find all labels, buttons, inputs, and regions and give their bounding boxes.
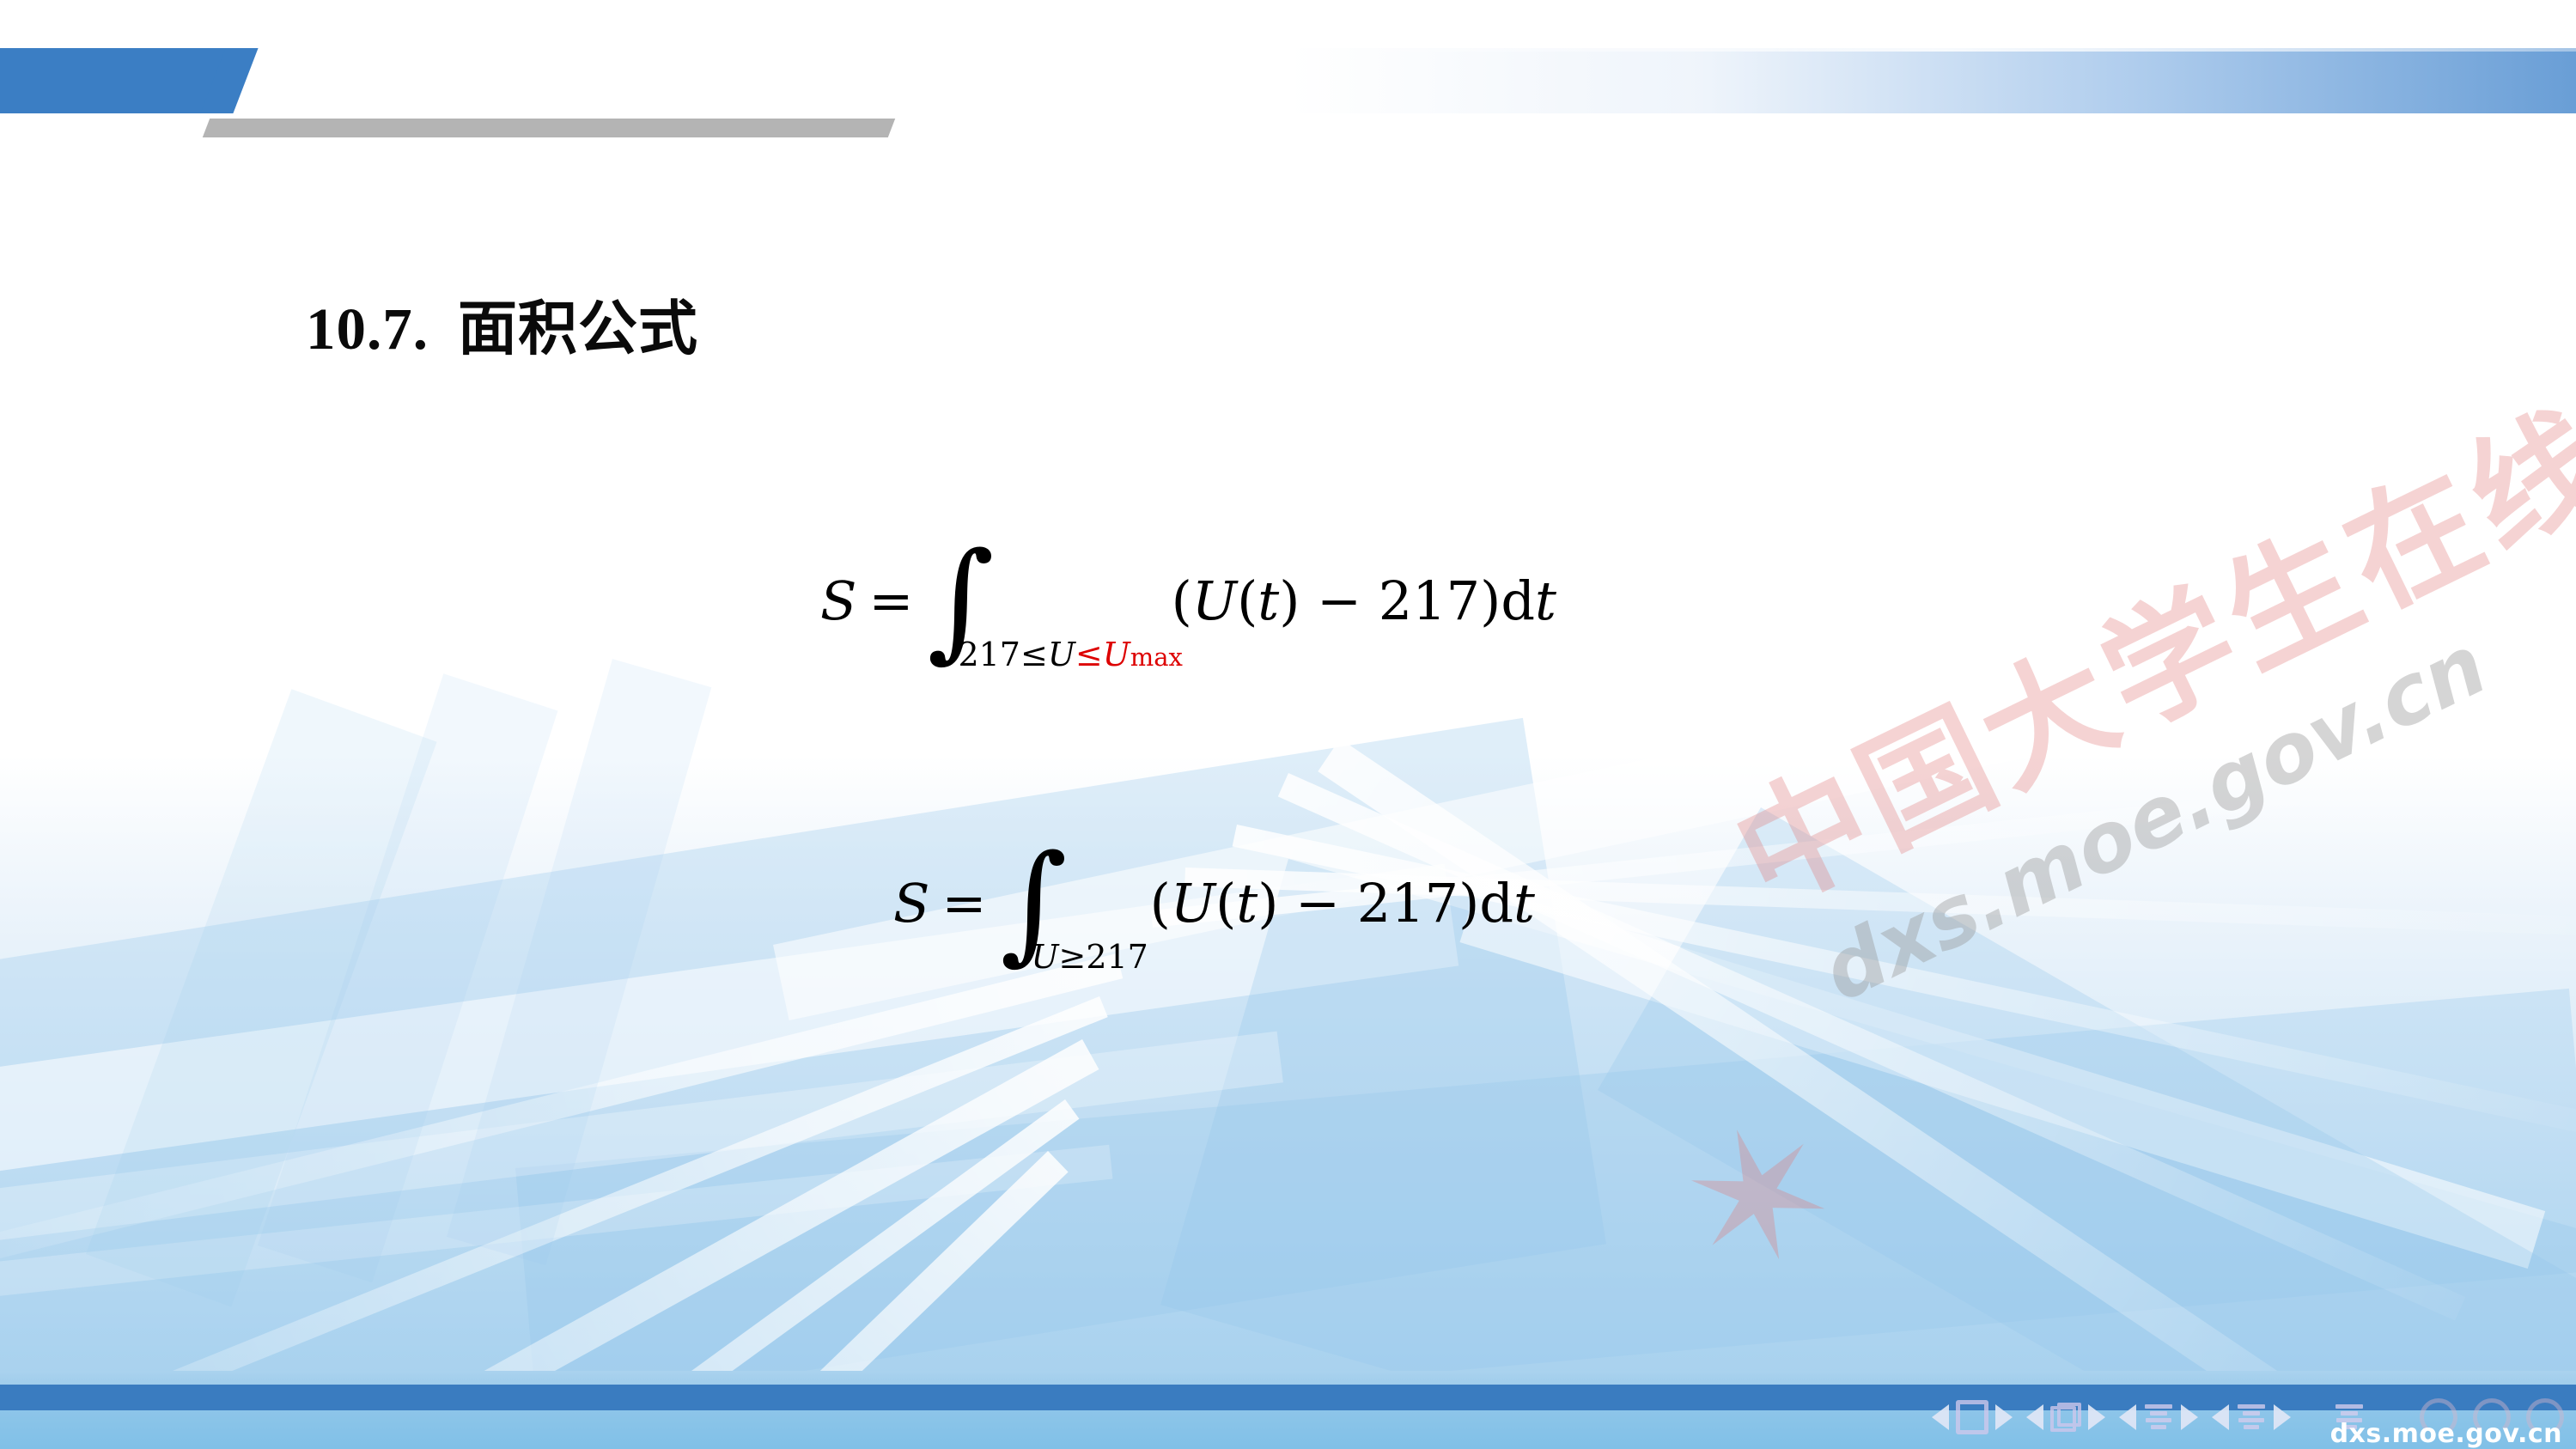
header-gradient-band [1288, 48, 2576, 113]
limit-le-operator: ≤ [1020, 636, 1048, 673]
formula-area-bounded: S = ∫ 217≤U≤Umax (U(t) − 217)dt [820, 548, 1556, 654]
bottom-bar-url: dxs.moe.gov.cn [2330, 1419, 2562, 1449]
previous-section-icon[interactable] [2026, 1404, 2043, 1430]
paren-open: ( [1150, 872, 1171, 935]
formula1-integrand: (U(t) − 217)dt [1172, 569, 1556, 632]
previous-slide-icon[interactable] [1932, 1404, 1949, 1430]
next-section-icon[interactable] [2088, 1404, 2105, 1430]
paren-close: ) [1459, 872, 1479, 935]
page-title: 10.7.面积公式 [306, 280, 698, 366]
differential-d: d [1479, 872, 1513, 935]
integrand-function: U [1192, 569, 1237, 632]
formula2-lhs: S [893, 872, 929, 935]
paren-close-inner: ) [1258, 872, 1278, 935]
formula1-integral: ∫ 217≤U≤Umax [927, 548, 994, 654]
formula-area-simple: S = ∫ U≥217 (U(t) − 217)dt [893, 850, 1535, 956]
integrand-function: U [1171, 872, 1215, 935]
paren-close: ) [1480, 569, 1501, 632]
formula1-lhs: S [820, 569, 856, 632]
formula2-equals: = [941, 872, 986, 935]
minus-operator: − [1295, 872, 1340, 935]
nav-group-slide [1932, 1400, 2013, 1434]
integrand-constant: 217 [1357, 872, 1459, 935]
paren-open: ( [1172, 569, 1192, 632]
differential-d: d [1501, 569, 1535, 632]
slide-navigation-bar[interactable]: dxs.moe.gov.cn [0, 1385, 2576, 1449]
nav-group-section [2026, 1403, 2105, 1432]
limit-variable: U [1048, 636, 1075, 673]
title-number: 10.7. [306, 296, 429, 362]
notes-list-icon[interactable] [2236, 1403, 2267, 1432]
bottom-band-upper [0, 1371, 2576, 1385]
nav-group-subsection [2119, 1403, 2198, 1432]
nav-group-frame [2212, 1403, 2291, 1432]
paren-close-inner: ) [1279, 569, 1300, 632]
integrand-variable: t [1258, 569, 1279, 632]
differential-var: t [1535, 569, 1556, 632]
outline-list-icon[interactable] [2143, 1403, 2174, 1432]
paren-open-inner: ( [1215, 872, 1236, 935]
next-subsection-icon[interactable] [2181, 1404, 2198, 1430]
formula1-integral-limits: 217≤U≤Umax [958, 638, 1182, 671]
paren-open-inner: ( [1237, 569, 1258, 632]
next-slide-icon[interactable] [1995, 1404, 2013, 1430]
differential-var: t [1513, 872, 1535, 935]
slide-square-icon[interactable] [1956, 1400, 1988, 1434]
previous-subsection-icon[interactable] [2119, 1404, 2136, 1430]
limit-red-index: max [1130, 642, 1183, 672]
integrand-constant: 217 [1379, 569, 1480, 632]
limit-red-le-operator: ≤ [1075, 636, 1103, 673]
formula1-equals: = [868, 569, 913, 632]
title-text: 面积公式 [458, 294, 698, 363]
previous-frame-icon[interactable] [2212, 1404, 2229, 1430]
slides-stack-icon[interactable] [2050, 1403, 2081, 1432]
header-gray-bar [203, 119, 895, 137]
integrand-variable: t [1236, 872, 1258, 935]
formula2-integral: ∫ U≥217 [1000, 850, 1067, 956]
next-frame-icon[interactable] [2274, 1404, 2291, 1430]
slide-background [0, 0, 2576, 1449]
limit-variable: U [1031, 938, 1058, 976]
limit-number: 217 [1086, 938, 1148, 976]
formula2-integrand: (U(t) − 217)dt [1150, 872, 1535, 935]
limit-ge-operator: ≥ [1058, 938, 1086, 976]
limit-red-variable: U [1103, 636, 1130, 673]
presentation-slide: 10.7.面积公式 S = ∫ 217≤U≤Umax (U(t) − 217)d… [0, 0, 2576, 1449]
minus-operator: − [1317, 569, 1361, 632]
formula2-integral-limits: U≥217 [1031, 941, 1148, 973]
limit-lower-number: 217 [958, 636, 1020, 673]
